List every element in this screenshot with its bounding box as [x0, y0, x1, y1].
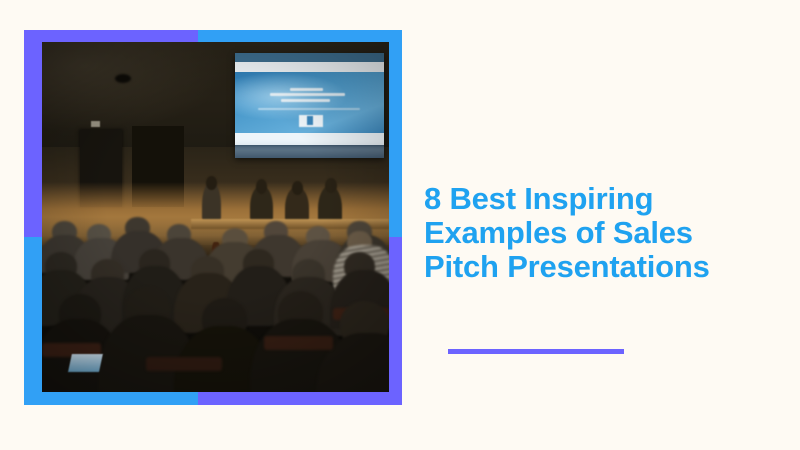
wall-sign-icon — [91, 121, 100, 127]
screen-white-band-bottom — [235, 133, 384, 145]
screen-white-band-top — [235, 62, 384, 73]
panel-speaker-2-head — [256, 179, 267, 194]
ceiling-speaker-icon — [115, 74, 131, 83]
slide-logo-icon — [299, 115, 323, 127]
accent-rule — [448, 349, 624, 354]
slide-text-line-3 — [281, 99, 330, 102]
conference-audience-photo — [42, 42, 389, 392]
framed-image-block — [24, 30, 402, 405]
slide-canvas: 8 Best Inspiring Examples of Sales Pitch… — [0, 0, 800, 450]
slide-text-line-4 — [258, 108, 359, 110]
attendee-laptop-screen — [68, 354, 103, 372]
screen-top-bar — [235, 53, 384, 62]
slide-text-line-2 — [270, 93, 345, 96]
panel-speaker-4-head — [325, 178, 337, 193]
panel-speaker-3-head — [292, 181, 303, 196]
slide-text-line-1 — [290, 88, 323, 90]
chair-back — [146, 357, 222, 371]
page-title: 8 Best Inspiring Examples of Sales Pitch… — [424, 182, 784, 284]
chair-back — [264, 336, 333, 350]
panel-speaker-1-head — [206, 176, 216, 190]
screen-glow — [235, 145, 384, 158]
screen-slide-body — [235, 72, 384, 133]
projection-screen — [235, 53, 384, 158]
